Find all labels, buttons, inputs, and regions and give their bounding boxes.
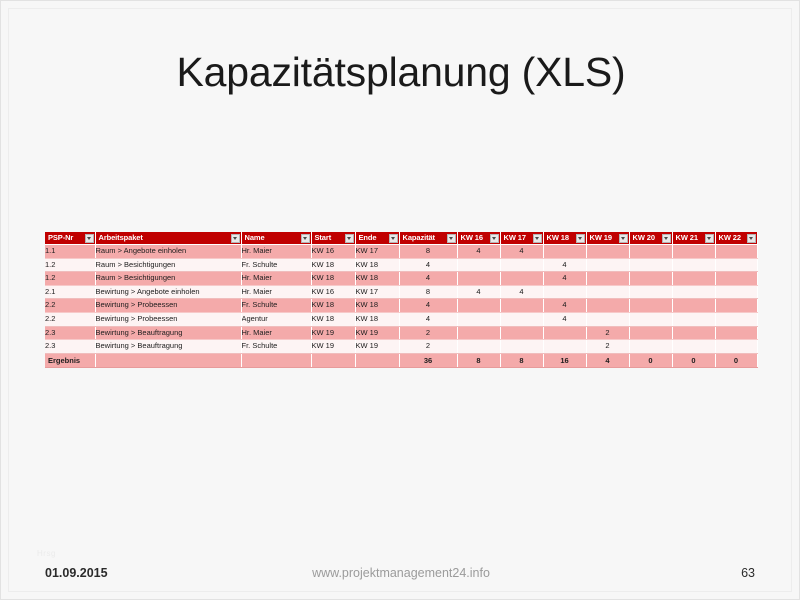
table-row[interactable]: 1.2Raum > BesichtigungenHr. MaierKW 18KW…	[45, 272, 757, 286]
total-cell-start	[311, 353, 355, 367]
filter-dropdown-kw16[interactable]	[490, 234, 499, 243]
column-header-label: Start	[315, 232, 332, 244]
cell-kw18	[543, 285, 586, 299]
cell-kw16	[457, 312, 500, 326]
column-header-kw18[interactable]: KW 18	[543, 232, 586, 245]
cell-kw16	[457, 326, 500, 340]
chevron-down-icon	[664, 237, 668, 240]
cell-kw18: 4	[543, 258, 586, 272]
total-cell-name	[241, 353, 311, 367]
footer-url: www.projektmanagement24.info	[1, 566, 800, 580]
chevron-down-icon	[621, 237, 625, 240]
total-cell-kapazitaet: 36	[399, 353, 457, 367]
cell-kw20	[629, 299, 672, 313]
cell-kw20	[629, 340, 672, 354]
cell-kw16	[457, 272, 500, 286]
cell-kapazitaet: 2	[399, 340, 457, 354]
column-header-label: KW 16	[461, 232, 483, 244]
table-row[interactable]: 2.2Bewirtung > ProbeessenFr. SchulteKW 1…	[45, 299, 757, 313]
table-row[interactable]: 2.2Bewirtung > ProbeessenAgenturKW 18KW …	[45, 312, 757, 326]
chevron-down-icon	[391, 237, 395, 240]
cell-ende: KW 18	[355, 299, 399, 313]
cell-kw21	[672, 326, 715, 340]
cell-kapazitaet: 8	[399, 245, 457, 259]
cell-kw18: 4	[543, 272, 586, 286]
cell-kw20	[629, 285, 672, 299]
filter-dropdown-ende[interactable]	[389, 234, 398, 243]
total-cell-kw20: 0	[629, 353, 672, 367]
total-cell-kw19: 4	[586, 353, 629, 367]
column-header-kw17[interactable]: KW 17	[500, 232, 543, 245]
cell-kw18	[543, 340, 586, 354]
cell-kw20	[629, 245, 672, 259]
cell-ende: KW 17	[355, 285, 399, 299]
total-row-label: Ergebnis	[45, 353, 95, 367]
cell-psp: 2.3	[45, 340, 95, 354]
chevron-down-icon	[578, 237, 582, 240]
table-header-row: PSP-NrArbeitspaketNameStartEndeKapazität…	[45, 232, 757, 245]
cell-name: Agentur	[241, 312, 311, 326]
cell-paket: Bewirtung > Probeessen	[95, 299, 241, 313]
cell-kw18	[543, 326, 586, 340]
filter-dropdown-name[interactable]	[301, 234, 310, 243]
cell-kw19: 2	[586, 340, 629, 354]
cell-name: Fr. Schulte	[241, 258, 311, 272]
cell-paket: Raum > Angebote einholen	[95, 245, 241, 259]
cell-paket: Bewirtung > Probeessen	[95, 312, 241, 326]
cell-kw20	[629, 272, 672, 286]
cell-kw16	[457, 258, 500, 272]
total-cell-kw16: 8	[457, 353, 500, 367]
cell-kapazitaet: 4	[399, 299, 457, 313]
cell-paket: Bewirtung > Beauftragung	[95, 326, 241, 340]
chevron-down-icon	[749, 237, 753, 240]
filter-dropdown-kw22[interactable]	[747, 234, 756, 243]
chevron-down-icon	[347, 237, 351, 240]
cell-kapazitaet: 4	[399, 258, 457, 272]
cell-kw22	[715, 285, 757, 299]
capacity-planning-table: PSP-NrArbeitspaketNameStartEndeKapazität…	[45, 232, 757, 368]
cell-kw16	[457, 340, 500, 354]
cell-kw22	[715, 258, 757, 272]
table-row[interactable]: 1.1Raum > Angebote einholenHr. MaierKW 1…	[45, 245, 757, 259]
chevron-down-icon	[87, 237, 91, 240]
cell-kw19	[586, 272, 629, 286]
cell-kw17	[500, 258, 543, 272]
cell-ende: KW 19	[355, 340, 399, 354]
cell-kw22	[715, 299, 757, 313]
table-total-row: Ergebnis3688164000	[45, 353, 757, 367]
cell-kw19	[586, 245, 629, 259]
column-header-kw16[interactable]: KW 16	[457, 232, 500, 245]
column-header-label: KW 18	[547, 232, 569, 244]
cell-psp: 2.1	[45, 285, 95, 299]
cell-paket: Bewirtung > Angebote einholen	[95, 285, 241, 299]
cell-kw21	[672, 285, 715, 299]
column-header-kw20[interactable]: KW 20	[629, 232, 672, 245]
cell-kw21	[672, 312, 715, 326]
column-header-ende[interactable]: Ende	[355, 232, 399, 245]
cell-kapazitaet: 4	[399, 312, 457, 326]
cell-paket: Bewirtung > Beauftragung	[95, 340, 241, 354]
column-header-label: KW 21	[676, 232, 698, 244]
cell-paket: Raum > Besichtigungen	[95, 258, 241, 272]
total-cell-kw22: 0	[715, 353, 757, 367]
footer-watermark: Hrsg	[37, 549, 56, 558]
cell-name: Hr. Maier	[241, 272, 311, 286]
cell-kw21	[672, 258, 715, 272]
chevron-down-icon	[449, 237, 453, 240]
table-row[interactable]: 2.3Bewirtung > BeauftragungFr. SchulteKW…	[45, 340, 757, 354]
cell-kw22	[715, 326, 757, 340]
cell-name: Hr. Maier	[241, 326, 311, 340]
filter-dropdown-kw20[interactable]	[662, 234, 671, 243]
cell-kw19	[586, 312, 629, 326]
filter-dropdown-kw19[interactable]	[619, 234, 628, 243]
cell-kw22	[715, 272, 757, 286]
cell-kw17	[500, 272, 543, 286]
filter-dropdown-psp[interactable]	[85, 234, 94, 243]
chevron-down-icon	[492, 237, 496, 240]
cell-name: Hr. Maier	[241, 285, 311, 299]
cell-kapazitaet: 4	[399, 272, 457, 286]
cell-kw21	[672, 299, 715, 313]
cell-start: KW 18	[311, 272, 355, 286]
cell-start: KW 16	[311, 285, 355, 299]
filter-dropdown-kapazitaet[interactable]	[447, 234, 456, 243]
column-header-label: PSP-Nr	[48, 232, 73, 244]
total-cell-ende	[355, 353, 399, 367]
filter-dropdown-paket[interactable]	[231, 234, 240, 243]
cell-psp: 2.2	[45, 299, 95, 313]
cell-kw18	[543, 245, 586, 259]
total-cell-kw17: 8	[500, 353, 543, 367]
column-header-psp[interactable]: PSP-Nr	[45, 232, 95, 245]
table-row[interactable]: 2.1Bewirtung > Angebote einholenHr. Maie…	[45, 285, 757, 299]
chevron-down-icon	[535, 237, 539, 240]
cell-kw16	[457, 299, 500, 313]
column-header-label: Name	[245, 232, 265, 244]
column-header-kapazitaet[interactable]: Kapazität	[399, 232, 457, 245]
cell-psp: 2.2	[45, 312, 95, 326]
chevron-down-icon	[233, 237, 237, 240]
cell-kw22	[715, 312, 757, 326]
cell-ende: KW 18	[355, 312, 399, 326]
cell-paket: Raum > Besichtigungen	[95, 272, 241, 286]
cell-kapazitaet: 2	[399, 326, 457, 340]
cell-kw20	[629, 258, 672, 272]
cell-psp: 2.3	[45, 326, 95, 340]
cell-kw22	[715, 245, 757, 259]
footer-page-number: 63	[741, 566, 755, 580]
cell-kw17: 4	[500, 285, 543, 299]
cell-kw17	[500, 312, 543, 326]
cell-kw19	[586, 258, 629, 272]
column-header-label: KW 22	[719, 232, 741, 244]
total-cell-paket	[95, 353, 241, 367]
cell-start: KW 18	[311, 299, 355, 313]
filter-dropdown-kw21[interactable]	[705, 234, 714, 243]
chevron-down-icon	[303, 237, 307, 240]
cell-kw17	[500, 326, 543, 340]
cell-kapazitaet: 8	[399, 285, 457, 299]
cell-kw19: 2	[586, 326, 629, 340]
column-header-label: KW 17	[504, 232, 526, 244]
column-header-label: Arbeitspaket	[99, 232, 143, 244]
cell-name: Fr. Schulte	[241, 340, 311, 354]
cell-ende: KW 18	[355, 258, 399, 272]
table-body: 1.1Raum > Angebote einholenHr. MaierKW 1…	[45, 245, 757, 368]
chevron-down-icon	[707, 237, 711, 240]
column-header-start[interactable]: Start	[311, 232, 355, 245]
cell-kw22	[715, 340, 757, 354]
filter-dropdown-start[interactable]	[345, 234, 354, 243]
cell-kw16: 4	[457, 285, 500, 299]
cell-start: KW 19	[311, 326, 355, 340]
cell-kw18: 4	[543, 312, 586, 326]
cell-ende: KW 17	[355, 245, 399, 259]
cell-kw20	[629, 326, 672, 340]
column-header-kw19[interactable]: KW 19	[586, 232, 629, 245]
column-header-label: KW 20	[633, 232, 655, 244]
cell-ende: KW 18	[355, 272, 399, 286]
column-header-name[interactable]: Name	[241, 232, 311, 245]
table-row[interactable]: 2.3Bewirtung > BeauftragungHr. MaierKW 1…	[45, 326, 757, 340]
cell-kw17: 4	[500, 245, 543, 259]
cell-name: Hr. Maier	[241, 245, 311, 259]
cell-kw16: 4	[457, 245, 500, 259]
column-header-label: Ende	[359, 232, 377, 244]
total-cell-kw21: 0	[672, 353, 715, 367]
cell-kw19	[586, 285, 629, 299]
column-header-label: Kapazität	[403, 232, 435, 244]
cell-kw20	[629, 312, 672, 326]
column-header-kw22[interactable]: KW 22	[715, 232, 757, 245]
cell-start: KW 16	[311, 245, 355, 259]
cell-kw19	[586, 299, 629, 313]
cell-ende: KW 19	[355, 326, 399, 340]
cell-psp: 1.2	[45, 272, 95, 286]
cell-psp: 1.1	[45, 245, 95, 259]
cell-kw17	[500, 340, 543, 354]
cell-kw21	[672, 245, 715, 259]
column-header-label: KW 19	[590, 232, 612, 244]
cell-psp: 1.2	[45, 258, 95, 272]
cell-name: Fr. Schulte	[241, 299, 311, 313]
filter-dropdown-kw17[interactable]	[533, 234, 542, 243]
column-header-paket[interactable]: Arbeitspaket	[95, 232, 241, 245]
cell-kw17	[500, 299, 543, 313]
cell-start: KW 19	[311, 340, 355, 354]
table-row[interactable]: 1.2Raum > BesichtigungenFr. SchulteKW 18…	[45, 258, 757, 272]
cell-start: KW 18	[311, 312, 355, 326]
filter-dropdown-kw18[interactable]	[576, 234, 585, 243]
page-title: Kapazitätsplanung (XLS)	[1, 49, 800, 96]
presentation-slide: Kapazitätsplanung (XLS) PSP-NrArbeitspak…	[0, 0, 800, 600]
cell-kw21	[672, 340, 715, 354]
cell-start: KW 18	[311, 258, 355, 272]
total-cell-kw18: 16	[543, 353, 586, 367]
column-header-kw21[interactable]: KW 21	[672, 232, 715, 245]
cell-kw21	[672, 272, 715, 286]
cell-kw18: 4	[543, 299, 586, 313]
